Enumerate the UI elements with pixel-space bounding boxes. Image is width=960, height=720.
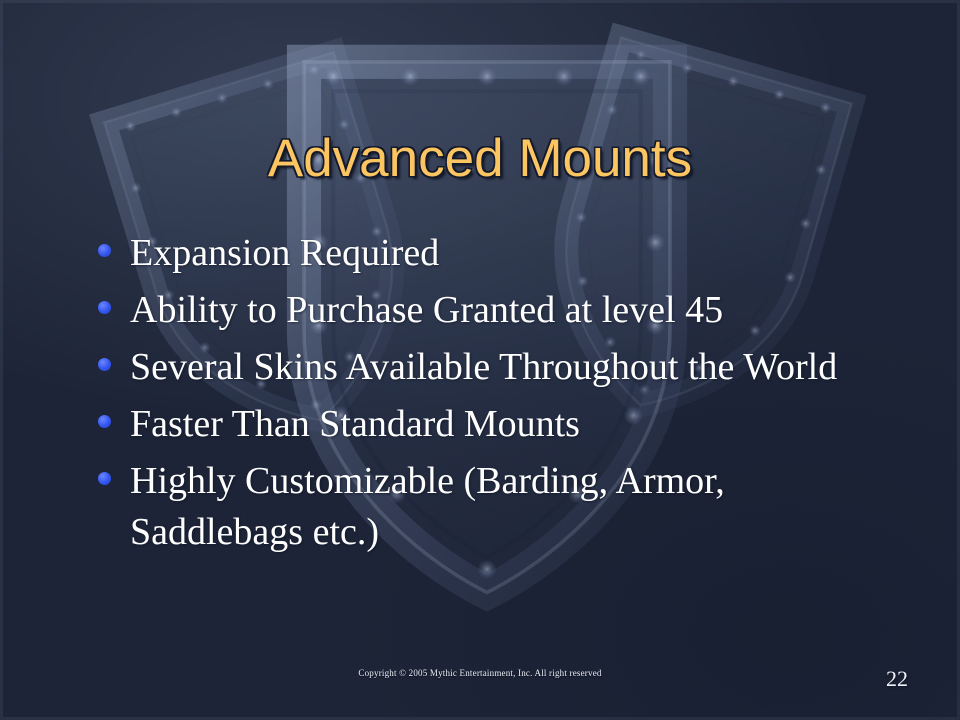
bullet-list: Expansion Required Ability to Purchase G… xyxy=(98,228,888,564)
bullet-marker-icon xyxy=(98,415,111,428)
list-item: Faster Than Standard Mounts xyxy=(98,399,888,450)
list-item: Expansion Required xyxy=(98,228,888,279)
list-item: Highly Customizable (Barding, Armor, Sad… xyxy=(98,456,888,558)
list-item-text: Several Skins Available Throughout the W… xyxy=(130,342,888,393)
list-item-text: Highly Customizable (Barding, Armor, Sad… xyxy=(130,456,888,558)
page-number: 22 xyxy=(886,666,908,692)
bullet-marker-icon xyxy=(98,472,111,485)
bullet-marker-icon xyxy=(98,244,111,257)
list-item-text: Faster Than Standard Mounts xyxy=(130,399,888,450)
list-item-text: Ability to Purchase Granted at level 45 xyxy=(130,285,888,336)
list-item-text: Expansion Required xyxy=(130,228,888,279)
slide-canvas: Advanced Mounts Expansion Required Abili… xyxy=(0,0,960,720)
bullet-marker-icon xyxy=(98,301,111,314)
copyright-notice: Copyright © 2005 Mythic Entertainment, I… xyxy=(0,668,960,678)
page-title: Advanced Mounts xyxy=(0,128,960,189)
bullet-marker-icon xyxy=(98,358,111,371)
list-item: Several Skins Available Throughout the W… xyxy=(98,342,888,393)
list-item: Ability to Purchase Granted at level 45 xyxy=(98,285,888,336)
